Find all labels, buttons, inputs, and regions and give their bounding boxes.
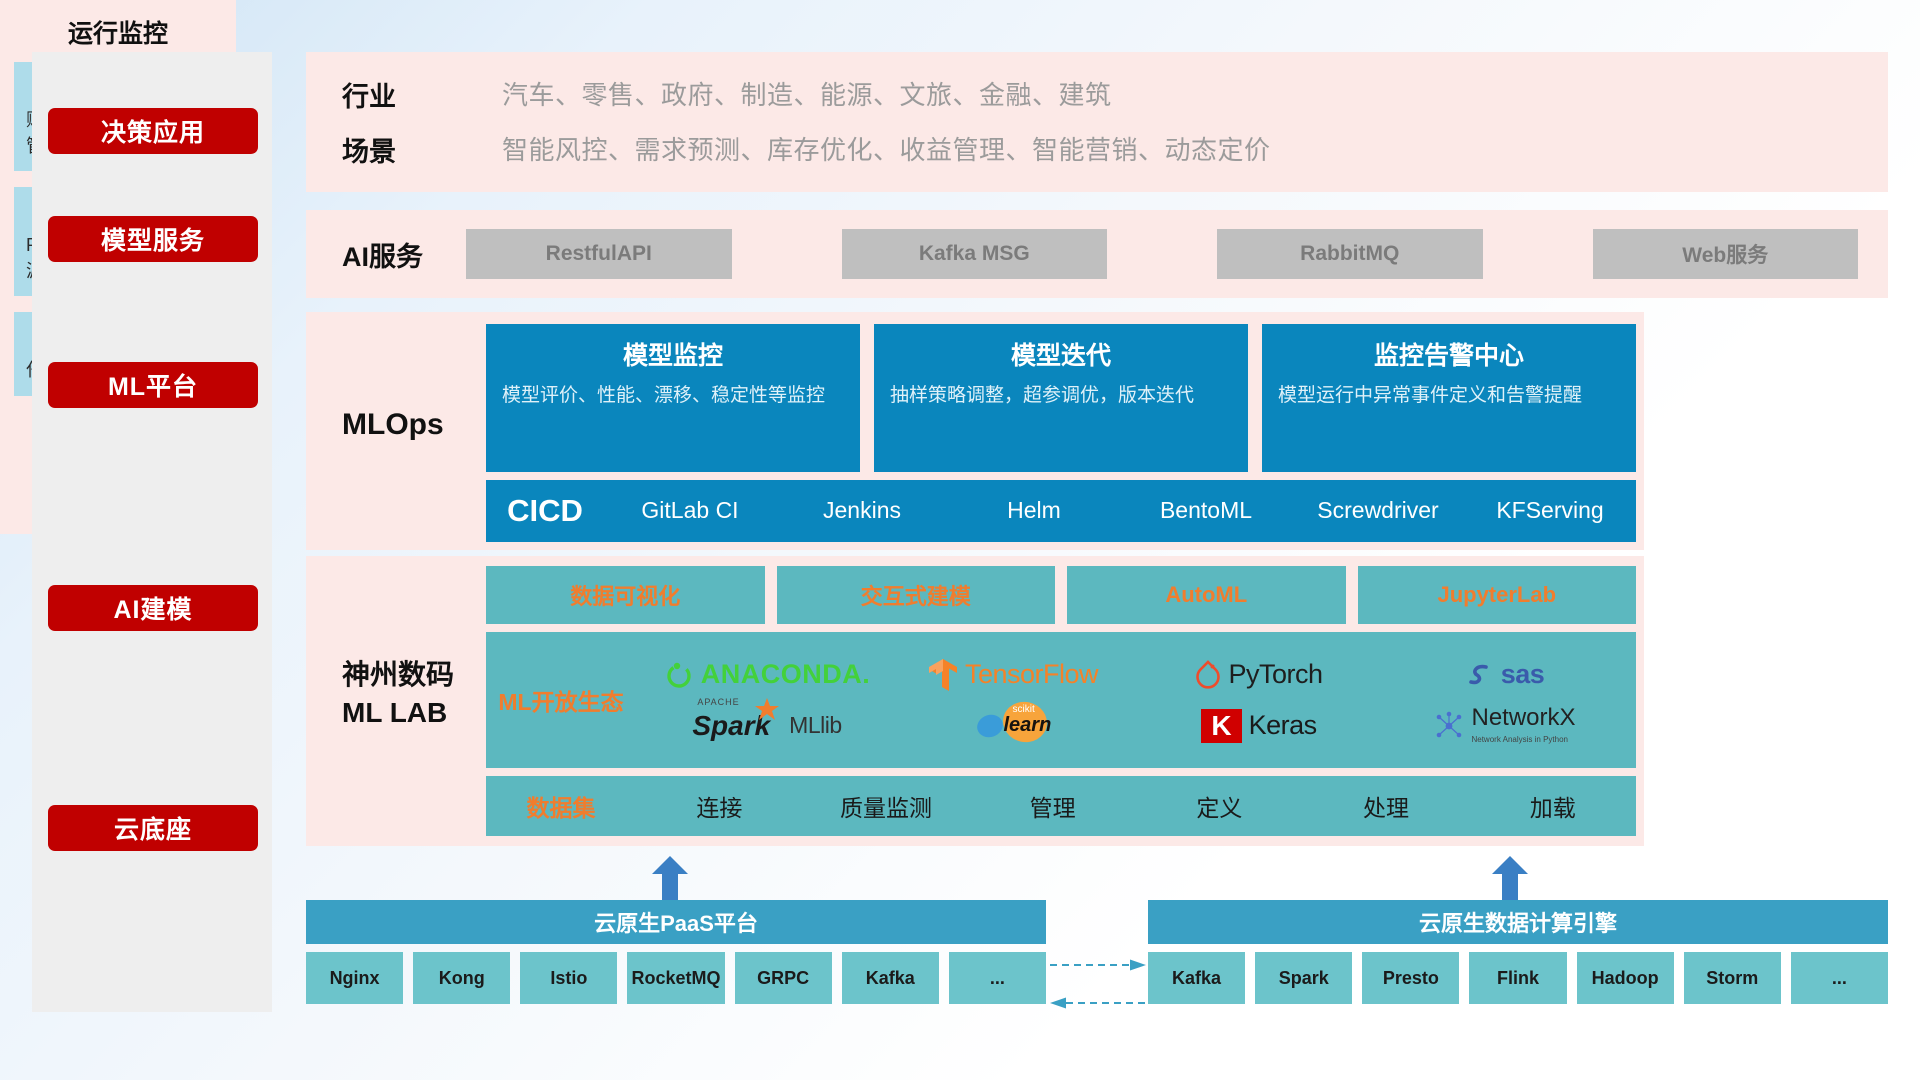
sas-wordmark: sas — [1501, 659, 1545, 690]
ml-lab-label: 神州数码 ML LAB — [342, 656, 454, 731]
card-title: 监控告警中心 — [1278, 336, 1620, 372]
ml-lab-band: 神州数码 ML LAB 数据可视化 交互式建模 AutoML JupyterLa… — [306, 556, 1644, 846]
data-chip-more[interactable]: ... — [1791, 952, 1888, 1004]
tensorflow-mark-icon — [928, 658, 958, 692]
scikit-learn-logo: scikit learn — [974, 700, 1053, 751]
cicd-item-kfserving[interactable]: KFServing — [1464, 498, 1636, 523]
cicd-bar: CICD GitLab CI Jenkins Helm BentoML Scre… — [486, 480, 1636, 542]
keras-mark-icon: K — [1201, 709, 1241, 743]
pytorch-flame-icon — [1195, 659, 1221, 691]
ml-lab-label-line2: ML LAB — [342, 694, 454, 732]
ml-lab-tool-automl[interactable]: AutoML — [1067, 566, 1346, 624]
dataset-label: 数据集 — [486, 789, 636, 823]
rail-tag-cloud-base[interactable]: 云底座 — [48, 805, 258, 851]
ai-service-chip-kafka-msg[interactable]: Kafka MSG — [842, 229, 1108, 279]
cloud-data-engine-bar[interactable]: 云原生数据计算引擎 — [1148, 900, 1888, 944]
mlops-label: MLOps — [342, 408, 444, 442]
industry-value: 汽车、零售、政府、制造、能源、文旅、金融、建筑 — [502, 75, 1888, 114]
scenario-label: 场景 — [342, 130, 502, 169]
cloud-data-engine-title: 云原生数据计算引擎 — [1419, 906, 1617, 938]
architecture-diagram: 决策应用 模型服务 ML平台 AI建模 云底座 行业 汽车、零售、政府、制造、能… — [0, 0, 1920, 1080]
cicd-item-list: GitLab CI Jenkins Helm BentoML Screwdriv… — [604, 498, 1636, 523]
tensorflow-logo: TensorFlow — [928, 658, 1098, 692]
ml-ecosystem-logo-grid: ANACONDA. TensorFlow — [636, 645, 1636, 755]
sas-mark-icon — [1466, 661, 1494, 689]
rail-tag-ai-modeling[interactable]: AI建模 — [48, 585, 258, 631]
cloud-chip-rocketmq[interactable]: RocketMQ — [627, 952, 724, 1004]
up-arrow-paas-icon — [650, 856, 690, 900]
ai-service-band: AI服务 RestfulAPI Kafka MSG RabbitMQ Web服务 — [306, 210, 1888, 298]
keras-wordmark: Keras — [1249, 710, 1317, 741]
ml-lab-tool-jupyterlab[interactable]: JupyterLab — [1358, 566, 1637, 624]
rail-tag-label: 决策应用 — [101, 113, 205, 149]
apache-label: APACHE — [697, 697, 739, 707]
cloud-data-chip-list: Kafka Spark Presto Flink Hadoop Storm ..… — [1148, 952, 1888, 1004]
networkx-logo: NetworkX Network Analysis in Python — [1434, 706, 1575, 746]
pytorch-logo: PyTorch — [1195, 659, 1322, 691]
cloud-chip-kong[interactable]: Kong — [413, 952, 510, 1004]
industry-label: 行业 — [342, 75, 502, 114]
data-chip-flink[interactable]: Flink — [1469, 952, 1566, 1004]
data-chip-storm[interactable]: Storm — [1684, 952, 1781, 1004]
ml-ecosystem-panel: ML开放生态 ANACONDA. Ten — [486, 632, 1636, 768]
rail-tag-label: ML平台 — [108, 367, 198, 403]
ai-service-chip-rabbitmq[interactable]: RabbitMQ — [1217, 229, 1483, 279]
card-desc: 模型运行中异常事件定义和告警提醒 — [1278, 382, 1620, 410]
ai-service-chip-list: RestfulAPI Kafka MSG RabbitMQ Web服务 — [466, 229, 1888, 279]
dataset-item-quality-monitor[interactable]: 质量监测 — [803, 789, 970, 823]
ai-service-label: AI服务 — [306, 235, 466, 274]
rail-tag-label: AI建模 — [113, 590, 192, 626]
dashed-arrow-left-icon — [1050, 996, 1146, 1010]
mlops-card-model-iteration[interactable]: 模型迭代 抽样策略调整，超参调优，版本迭代 — [874, 324, 1248, 472]
data-chip-presto[interactable]: Presto — [1362, 952, 1459, 1004]
cloud-chip-grpc[interactable]: GRPC — [735, 952, 832, 1004]
cloud-paas-bar[interactable]: 云原生PaaS平台 — [306, 900, 1046, 944]
mlops-card-model-monitoring[interactable]: 模型监控 模型评价、性能、漂移、稳定性等监控 — [486, 324, 860, 472]
cloud-paas-chip-list: Nginx Kong Istio RocketMQ GRPC Kafka ... — [306, 952, 1046, 1004]
mlops-card-list: 模型监控 模型评价、性能、漂移、稳定性等监控 模型迭代 抽样策略调整，超参调优，… — [486, 324, 1636, 472]
up-arrow-data-engine-icon — [1490, 856, 1530, 900]
cicd-title: CICD — [486, 493, 604, 529]
ml-lab-tool-data-visualization[interactable]: 数据可视化 — [486, 566, 765, 624]
dataset-row: 数据集 连接 质量监测 管理 定义 处理 加载 — [486, 776, 1636, 836]
dashed-arrow-right-icon — [1050, 958, 1146, 972]
cloud-paas-title: 云原生PaaS平台 — [594, 906, 758, 938]
rail-tag-model-service[interactable]: 模型服务 — [48, 216, 258, 262]
cloud-chip-kafka[interactable]: Kafka — [842, 952, 939, 1004]
dataset-item-connect[interactable]: 连接 — [636, 789, 803, 823]
dataset-item-load[interactable]: 加载 — [1469, 789, 1636, 823]
ai-service-chip-restfulapi[interactable]: RestfulAPI — [466, 229, 732, 279]
scenario-value: 智能风控、需求预测、库存优化、收益管理、智能营销、动态定价 — [502, 130, 1888, 169]
card-desc: 抽样策略调整，超参调优，版本迭代 — [890, 382, 1232, 410]
spark-star-icon — [754, 697, 780, 723]
cicd-item-helm[interactable]: Helm — [948, 498, 1120, 523]
rail-tag-decision-app[interactable]: 决策应用 — [48, 108, 258, 154]
keras-logo: K Keras — [1201, 709, 1316, 743]
ml-lab-label-line1: 神州数码 — [342, 656, 454, 694]
card-desc: 模型评价、性能、漂移、稳定性等监控 — [502, 382, 844, 410]
networkx-tagline: Network Analysis in Python — [1471, 735, 1568, 744]
mllib-wordmark: MLlib — [789, 712, 841, 739]
dataset-item-define[interactable]: 定义 — [1136, 789, 1303, 823]
anaconda-mark-icon — [664, 660, 694, 690]
cloud-chip-istio[interactable]: Istio — [520, 952, 617, 1004]
learn-wordmark: learn — [1004, 714, 1052, 737]
sas-logo: sas — [1466, 659, 1545, 690]
ml-lab-tool-interactive-modeling[interactable]: 交互式建模 — [777, 566, 1056, 624]
mlops-card-alert-center[interactable]: 监控告警中心 模型运行中异常事件定义和告警提醒 — [1262, 324, 1636, 472]
cicd-item-bentoml[interactable]: BentoML — [1120, 498, 1292, 523]
anaconda-logo: ANACONDA. — [664, 659, 871, 690]
data-chip-hadoop[interactable]: Hadoop — [1577, 952, 1674, 1004]
card-title: 模型监控 — [502, 336, 844, 372]
data-chip-spark[interactable]: Spark — [1255, 952, 1352, 1004]
cicd-item-gitlab-ci[interactable]: GitLab CI — [604, 498, 776, 523]
networkx-graph-icon — [1434, 711, 1464, 741]
dataset-item-process[interactable]: 处理 — [1303, 789, 1470, 823]
data-chip-kafka[interactable]: Kafka — [1148, 952, 1245, 1004]
dataset-item-manage[interactable]: 管理 — [969, 789, 1136, 823]
cicd-item-jenkins[interactable]: Jenkins — [776, 498, 948, 523]
cicd-item-screwdriver[interactable]: Screwdriver — [1292, 498, 1464, 523]
tensorflow-wordmark: TensorFlow — [965, 659, 1098, 690]
rail-tag-ml-platform[interactable]: ML平台 — [48, 362, 258, 408]
card-title: 模型迭代 — [890, 336, 1232, 372]
ml-ecosystem-label: ML开放生态 — [486, 683, 636, 717]
rail-tag-label: 云底座 — [114, 810, 192, 846]
spark-mllib-logo: APACHE Spark MLlib — [692, 710, 841, 742]
networkx-wordmark: NetworkX — [1471, 704, 1575, 731]
anaconda-wordmark: ANACONDA. — [701, 659, 871, 690]
ai-service-chip-web-service[interactable]: Web服务 — [1593, 229, 1859, 279]
ml-lab-tool-list: 数据可视化 交互式建模 AutoML JupyterLab — [486, 566, 1636, 624]
mlops-band: MLOps 模型监控 模型评价、性能、漂移、稳定性等监控 模型迭代 抽样策略调整… — [306, 312, 1644, 550]
decision-app-band: 行业 汽车、零售、政府、制造、能源、文旅、金融、建筑 场景 智能风控、需求预测、… — [306, 52, 1888, 192]
cloud-chip-more[interactable]: ... — [949, 952, 1046, 1004]
rail-tag-label: 模型服务 — [101, 221, 205, 257]
pytorch-wordmark: PyTorch — [1228, 659, 1322, 690]
dataset-item-list: 连接 质量监测 管理 定义 处理 加载 — [636, 789, 1636, 823]
cloud-chip-nginx[interactable]: Nginx — [306, 952, 403, 1004]
layer-rail — [32, 52, 272, 1012]
